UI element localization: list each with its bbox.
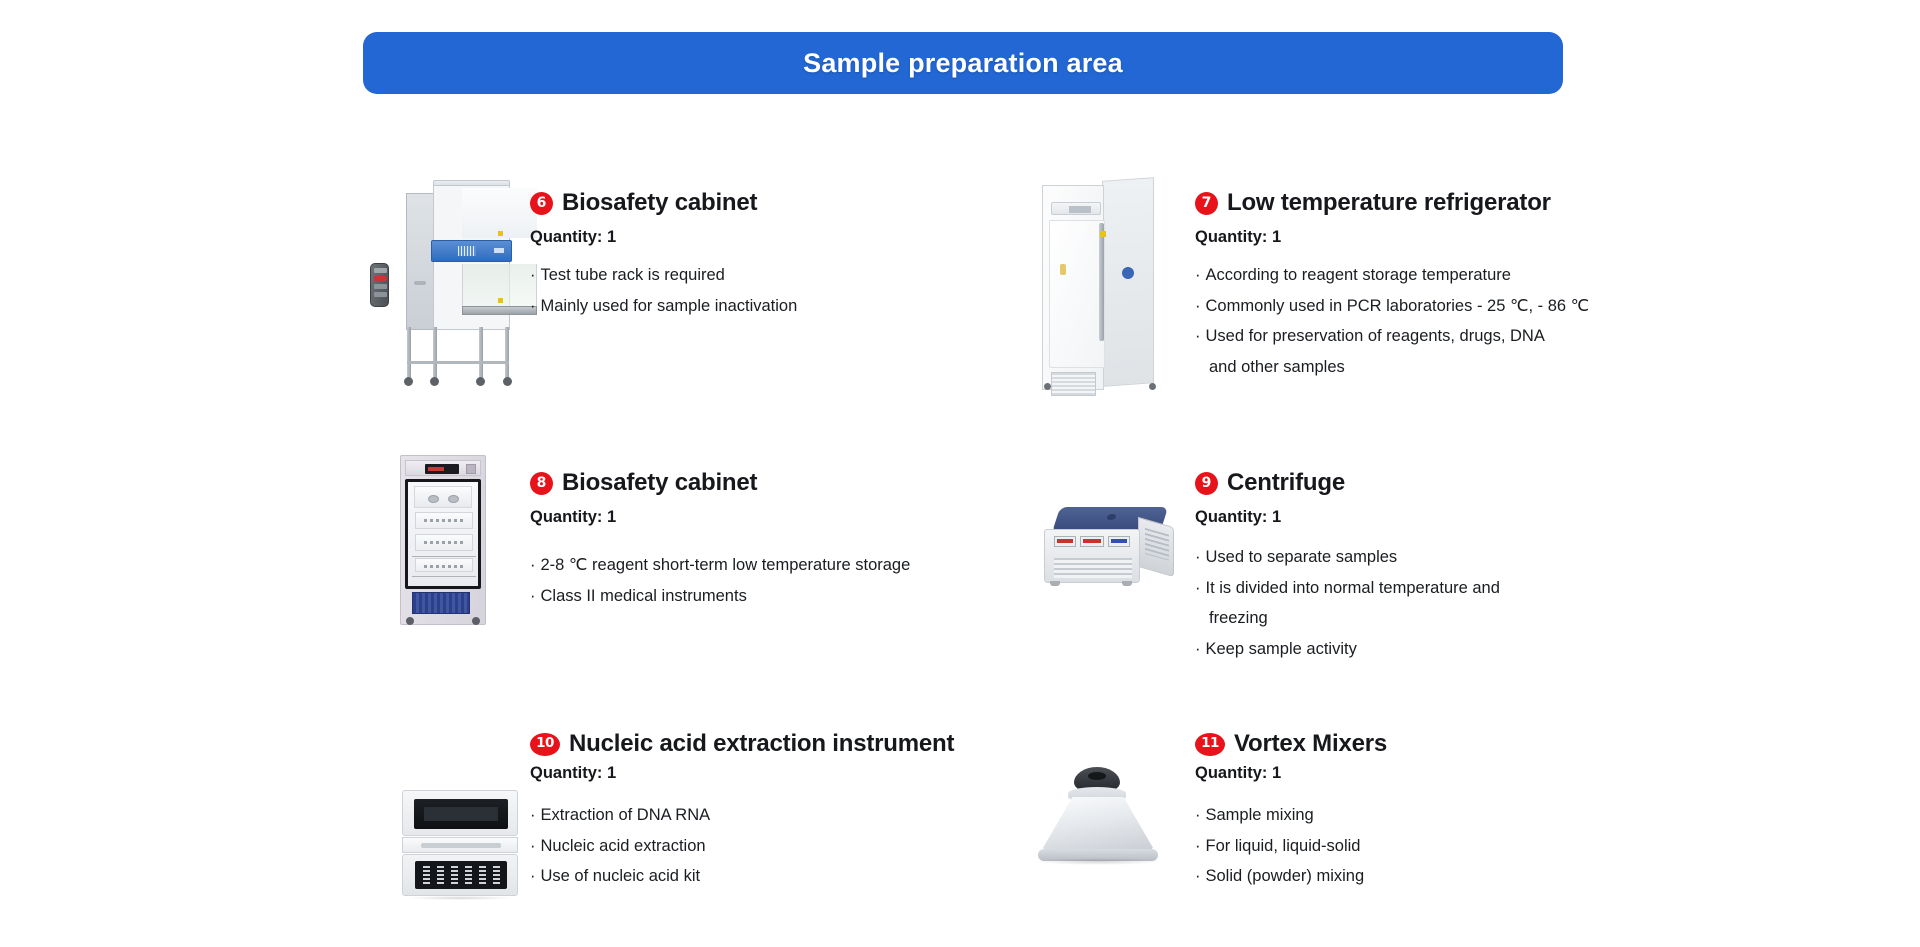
- equipment-quantity: Quantity: 1: [530, 228, 890, 247]
- bullet-marker-icon: ·: [530, 806, 536, 824]
- warning-label-icon-2: [498, 298, 503, 303]
- list-item: ·For liquid, liquid-solid: [1195, 838, 1590, 855]
- bullet-marker-icon: ·: [1195, 640, 1201, 658]
- centrifuge-foot: [1122, 581, 1132, 586]
- freezer-side-panel: [1102, 177, 1154, 387]
- fridge-display-icon: [425, 464, 459, 474]
- list-item-text: Keep sample activity: [1206, 640, 1357, 658]
- freezer-door-handle: [1099, 223, 1104, 341]
- item-number-badge: 9: [1195, 472, 1218, 495]
- fridge-tray: [415, 512, 473, 529]
- list-item: ·Nucleic acid extraction: [530, 838, 1020, 855]
- bullet-marker-icon: ·: [1195, 837, 1201, 855]
- centrifuge-display-time: [1080, 536, 1104, 547]
- equipment-info-11: 11 Vortex Mixers Quantity: 1 ·Sample mix…: [1195, 730, 1590, 899]
- equipment-card-8: 8 Biosafety cabinet Quantity: 1 ·2-8 ℃ r…: [400, 455, 940, 625]
- equipment-info-10: 10 Nucleic acid extraction instrument Qu…: [530, 730, 1020, 899]
- equipment-card-7: 7 Low temperature refrigerator Quantity:…: [1040, 175, 1600, 390]
- fridge-tray: [415, 534, 473, 551]
- equipment-title: Biosafety cabinet: [562, 189, 757, 217]
- extractor-mid-band: [402, 837, 518, 853]
- equipment-heading-6: 6 Biosafety cabinet: [530, 189, 890, 217]
- extractor-sample-tray: [415, 861, 507, 889]
- mixer-cone-body: [1040, 797, 1156, 853]
- bullet-marker-icon: ·: [1195, 548, 1201, 566]
- list-item-text: Nucleic acid extraction: [541, 837, 706, 855]
- equipment-info-9: 9 Centrifuge Quantity: 1 ·Used to separa…: [1195, 455, 1600, 671]
- stand-leg: [407, 327, 411, 379]
- list-item-text: Used for preservation of reagents, drugs…: [1206, 327, 1545, 345]
- centrifuge-front-grille: [1054, 558, 1132, 578]
- bullet-marker-icon: ·: [1195, 297, 1201, 315]
- freezer-front: [1042, 185, 1104, 390]
- item-number-badge: 6: [530, 192, 553, 215]
- remote-control-icon: [370, 263, 389, 307]
- fridge-shelf: [412, 576, 476, 577]
- caster-wheel-icon: [472, 617, 480, 625]
- equipment-image-nucleic-acid-extraction-instrument: [400, 730, 530, 900]
- list-item: ·Keep sample activity: [1195, 641, 1600, 658]
- bullet-marker-icon: ·: [530, 266, 536, 284]
- equipment-quantity: Quantity: 1: [1195, 508, 1600, 527]
- equipment-title: Low temperature refrigerator: [1227, 189, 1551, 217]
- list-item: ·It is divided into normal temperature a…: [1195, 580, 1600, 597]
- fridge-tray: [415, 558, 473, 572]
- equipment-heading-9: 9 Centrifuge: [1195, 469, 1600, 497]
- equipment-image-low-temperature-refrigerator: [1040, 175, 1195, 390]
- equipment-image-centrifuge: [1040, 455, 1195, 591]
- list-item-text: Sample mixing: [1206, 806, 1314, 824]
- list-item-text: Test tube rack is required: [541, 266, 725, 284]
- fridge-control-panel: [405, 460, 481, 476]
- equipment-title: Nucleic acid extraction instrument: [569, 730, 954, 758]
- stand-leg: [479, 327, 483, 379]
- bullet-marker-icon: ·: [530, 837, 536, 855]
- equipment-quantity: Quantity: 1: [1195, 764, 1590, 783]
- bullet-marker-icon: ·: [1195, 867, 1201, 885]
- equipment-bullet-list-7: ·According to reagent storage temperatur…: [1195, 267, 1600, 375]
- caster-wheel-icon: [406, 617, 414, 625]
- list-item: ·Commonly used in PCR laboratories - 25 …: [1195, 298, 1600, 315]
- equipment-image-pharmacy-refrigerator: [400, 455, 530, 625]
- list-item-text: Mainly used for sample inactivation: [541, 297, 798, 315]
- list-item: ·Solid (powder) mixing: [1195, 868, 1590, 885]
- lid-latch-icon: [1106, 514, 1117, 520]
- caster-wheel-icon: [404, 377, 413, 386]
- list-item-text: Solid (powder) mixing: [1206, 867, 1365, 885]
- equipment-heading-10: 10 Nucleic acid extraction instrument: [530, 730, 1020, 758]
- caster-wheel-icon: [430, 377, 439, 386]
- equipment-heading-8: 8 Biosafety cabinet: [530, 469, 940, 497]
- cabinet-display-icon: [494, 248, 504, 253]
- cabinet-vent-grille: [458, 246, 476, 256]
- list-item-text: Extraction of DNA RNA: [541, 806, 711, 824]
- cabinet-side-knob: [414, 281, 426, 285]
- equipment-title: Biosafety cabinet: [562, 469, 757, 497]
- stand-leg: [433, 327, 437, 379]
- bullet-marker-icon: ·: [1195, 806, 1201, 824]
- list-item-text: 2-8 ℃ reagent short-term low temperature…: [541, 556, 911, 574]
- warning-label-icon: [498, 231, 503, 236]
- fridge-shelf: [412, 556, 476, 557]
- slide-root: Sample preparation area: [0, 0, 1920, 947]
- list-item-text: It is divided into normal temperature an…: [1206, 579, 1500, 597]
- list-item-text: Commonly used in PCR laboratories - 25 ℃…: [1206, 297, 1590, 315]
- brand-logo-icon: [1122, 267, 1134, 279]
- centrifuge-vent-grille: [1145, 528, 1169, 561]
- caster-wheel-icon: [1149, 383, 1156, 390]
- equipment-card-6: 6 Biosafety cabinet Quantity: 1 ·Test tu…: [370, 175, 890, 390]
- item-number-badge: 10: [530, 733, 560, 756]
- centrifuge-front-panel: [1044, 529, 1140, 583]
- list-item: ·Used to separate samples: [1195, 549, 1600, 566]
- bullet-marker-icon: ·: [1195, 327, 1201, 345]
- equipment-title: Centrifuge: [1227, 469, 1345, 497]
- cabinet-stand: [406, 327, 510, 387]
- equipment-bullet-list-9: ·Used to separate samples ·It is divided…: [1195, 549, 1600, 657]
- list-item-continuation: and other samples: [1195, 359, 1600, 376]
- equipment-card-11: 11 Vortex Mixers Quantity: 1 ·Sample mix…: [1030, 730, 1590, 899]
- warning-label-icon: [1100, 231, 1106, 237]
- equipment-title: Vortex Mixers: [1234, 730, 1387, 758]
- equipment-bullet-list-6: ·Test tube rack is required ·Mainly used…: [530, 267, 890, 314]
- cabinet-enclosure: [406, 185, 510, 330]
- list-item-text: freezing: [1209, 609, 1268, 627]
- centrifuge-foot: [1050, 581, 1060, 586]
- extractor-window: [414, 799, 508, 829]
- list-item-text: For liquid, liquid-solid: [1206, 837, 1361, 855]
- list-item: ·Use of nucleic acid kit: [530, 868, 1020, 885]
- equipment-heading-7: 7 Low temperature refrigerator: [1195, 189, 1600, 217]
- bullet-marker-icon: ·: [1195, 579, 1201, 597]
- equipment-info-6: 6 Biosafety cabinet Quantity: 1 ·Test tu…: [530, 175, 890, 328]
- list-item: ·Extraction of DNA RNA: [530, 807, 1020, 824]
- stand-rail: [407, 361, 509, 364]
- equipment-image-biosafety-cabinet: [370, 175, 530, 390]
- freezer-base-grille: [1051, 372, 1096, 396]
- centrifuge-side-panel: [1138, 517, 1174, 577]
- equipment-bullet-list-10: ·Extraction of DNA RNA ·Nucleic acid ext…: [530, 807, 1020, 885]
- caster-wheel-icon: [1044, 383, 1051, 390]
- caster-wheel-icon: [503, 377, 512, 386]
- centrifuge-display-temp: [1108, 536, 1130, 547]
- list-item: ·Used for preservation of reagents, drug…: [1195, 328, 1600, 345]
- list-item: ·Sample mixing: [1195, 807, 1590, 824]
- stand-leg: [505, 327, 509, 379]
- extractor-handle-bar: [421, 843, 501, 848]
- freezer-door: [1049, 220, 1105, 368]
- section-header-banner: Sample preparation area: [363, 32, 1563, 94]
- fan-icon: [448, 495, 459, 503]
- freezer-display-icon: [1069, 206, 1091, 213]
- item-number-badge: 11: [1195, 733, 1225, 756]
- drop-shadow: [406, 896, 514, 900]
- fan-icon: [428, 495, 439, 503]
- equipment-card-9: 9 Centrifuge Quantity: 1 ·Used to separa…: [1040, 455, 1600, 671]
- mixer-cup-recess: [1088, 772, 1106, 780]
- equipment-info-7: 7 Low temperature refrigerator Quantity:…: [1195, 175, 1600, 389]
- fridge-glass-door: [405, 479, 481, 589]
- bullet-marker-icon: ·: [530, 587, 536, 605]
- vortex-mixer-illustration: [1030, 765, 1165, 865]
- equipment-quantity: Quantity: 1: [530, 508, 940, 527]
- list-item: ·Class II medical instruments: [530, 588, 940, 605]
- door-lock-icon: [1060, 264, 1066, 275]
- bullet-marker-icon: ·: [530, 556, 536, 574]
- equipment-heading-11: 11 Vortex Mixers: [1195, 730, 1590, 758]
- caster-wheel-icon: [476, 377, 485, 386]
- cabinet-control-band: [431, 240, 512, 262]
- bullet-marker-icon: ·: [1195, 266, 1201, 284]
- centrifuge-display-speed: [1054, 536, 1076, 547]
- list-item: ·Mainly used for sample inactivation: [530, 298, 890, 315]
- page-title: Sample preparation area: [803, 48, 1123, 79]
- extractor-lower-module: [402, 854, 518, 896]
- fridge-base-panel: [412, 592, 470, 614]
- extractor-upper-module: [402, 790, 518, 836]
- pharmacy-refrigerator-illustration: [400, 455, 486, 625]
- list-item-continuation: freezing: [1195, 610, 1600, 627]
- list-item-text: Use of nucleic acid kit: [541, 867, 701, 885]
- list-item-text: According to reagent storage temperature: [1206, 266, 1511, 284]
- equipment-bullet-list-8: ·2-8 ℃ reagent short-term low temperatur…: [530, 557, 940, 604]
- item-number-badge: 7: [1195, 192, 1218, 215]
- list-item: ·2-8 ℃ reagent short-term low temperatur…: [530, 557, 940, 574]
- list-item: ·According to reagent storage temperatur…: [1195, 267, 1600, 284]
- freezer-control-panel: [1051, 202, 1101, 215]
- equipment-bullet-list-11: ·Sample mixing ·For liquid, liquid-solid…: [1195, 807, 1590, 885]
- equipment-quantity: Quantity: 1: [530, 764, 1020, 783]
- equipment-quantity: Quantity: 1: [1195, 228, 1600, 247]
- list-item-text: and other samples: [1209, 358, 1345, 376]
- low-temperature-refrigerator-illustration: [1040, 175, 1160, 390]
- extractor-slot: [424, 807, 498, 821]
- fridge-button-icon: [466, 464, 476, 474]
- biosafety-cabinet-illustration: [370, 175, 520, 390]
- cabinet-side-panel: [406, 193, 434, 330]
- drop-shadow: [1034, 858, 1162, 865]
- list-item-text: Used to separate samples: [1206, 548, 1398, 566]
- cabinet-worktop: [462, 306, 537, 315]
- equipment-info-8: 8 Biosafety cabinet Quantity: 1 ·2-8 ℃ r…: [530, 455, 940, 618]
- fridge-fan-housing: [414, 486, 472, 508]
- item-number-badge: 8: [530, 472, 553, 495]
- nucleic-acid-extractor-illustration: [400, 790, 520, 900]
- equipment-image-vortex-mixer: [1030, 730, 1195, 865]
- centrifuge-illustration: [1040, 505, 1180, 591]
- list-item: ·Test tube rack is required: [530, 267, 890, 284]
- bullet-marker-icon: ·: [530, 867, 536, 885]
- equipment-card-10: 10 Nucleic acid extraction instrument Qu…: [400, 730, 1020, 900]
- bullet-marker-icon: ·: [530, 297, 536, 315]
- list-item-text: Class II medical instruments: [541, 587, 747, 605]
